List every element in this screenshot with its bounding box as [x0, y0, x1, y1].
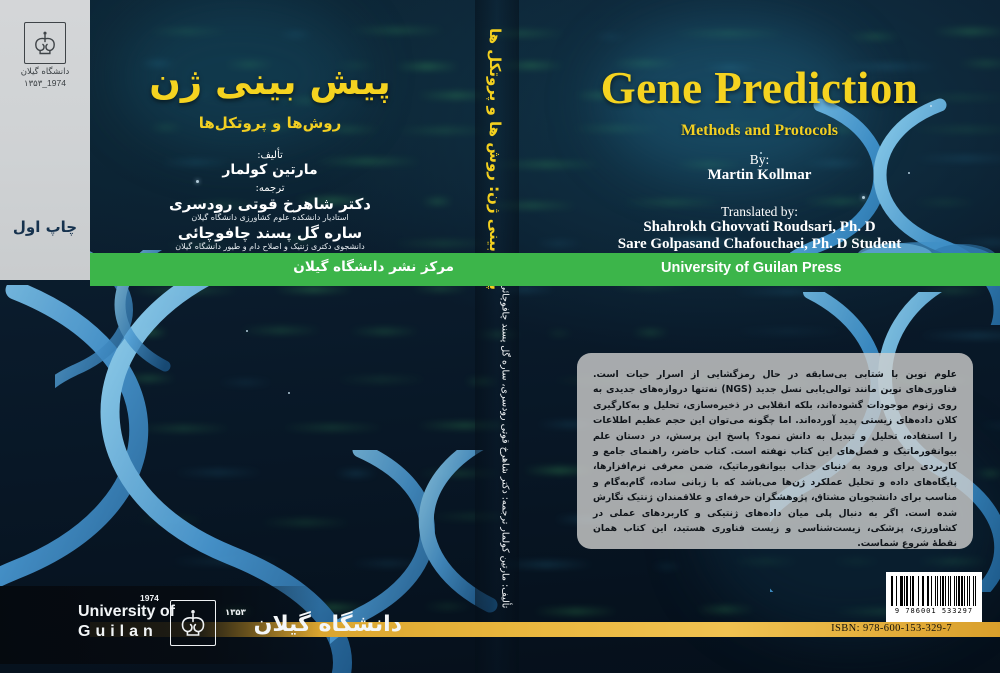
- guilan-emblem-icon-bottom: [170, 600, 216, 646]
- back-translator-1: دکتر شاهرخ قوتی رودسری: [90, 195, 450, 213]
- logo-university-line1: University of: [78, 602, 175, 622]
- book-cover: دانشگاه گیلان ۱۳۵۳_1974 چاپ اول پیش بینی…: [0, 0, 1000, 673]
- back-subtitle-fa: روش‌ها و پروتکل‌ها: [90, 114, 450, 132]
- back-author-label: تألیف:: [90, 150, 450, 161]
- guilan-emblem-icon: [24, 22, 66, 64]
- barcode-bar: [976, 576, 977, 606]
- back-translator-2-affiliation: دانشجوی دکتری ژنتیک و اصلاح دام و طیور د…: [90, 242, 450, 251]
- front-translator-1: Shahrokh Ghovvati Roudsari, Ph. D: [519, 219, 1000, 236]
- logo-university-line2: Guilan: [78, 622, 175, 642]
- flap-university-logo: دانشگاه گیلان ۱۳۵۳_1974: [17, 22, 73, 89]
- barcode-bars: [891, 576, 977, 606]
- front-subtitle: Methods and Protocols: [519, 122, 1000, 140]
- flap-emblem-fa: دانشگاه گیلان: [17, 67, 73, 77]
- logo-university-en: University of Guilan: [78, 602, 175, 642]
- book-spine: پیش بینی ژن: روش ها و پروتکل ها تألیف: م…: [475, 0, 519, 673]
- logo-university-fa: دانشگاه گیلان: [222, 612, 402, 637]
- left-flap: دانشگاه گیلان ۱۳۵۳_1974 چاپ اول: [0, 0, 90, 280]
- back-cover-blurb: علوم نوین با شتابی بی‌سابقه در حال رمزگش…: [577, 353, 973, 549]
- publisher-band: مرکز نشر دانشگاه گیلان University of Gui…: [90, 253, 1000, 286]
- emblem-glyph-icon: [31, 29, 59, 57]
- bottom-logo-band: 1974 University of Guilan ۱۳۵۳ دانشگاه گ…: [0, 586, 320, 664]
- publisher-name-fa: مرکز نشر دانشگاه گیلان: [293, 259, 454, 275]
- front-author-name: Martin Kollmar: [519, 167, 1000, 184]
- front-translated-label: Translated by:: [519, 204, 1000, 220]
- flap-emblem-years: ۱۳۵۳_1974: [17, 78, 73, 89]
- back-translator-1-affiliation: استادیار دانشکده علوم کشاورزی دانشگاه گی…: [90, 213, 450, 222]
- front-title: Gene Prediction: [519, 62, 1000, 114]
- back-translator-2: ساره گل پسند چافوچائی: [90, 224, 450, 242]
- barcode: 9 786001 533297: [886, 572, 982, 622]
- front-by-label: By:: [519, 152, 1000, 168]
- back-translator-label: ترجمه:: [90, 183, 450, 194]
- back-cover: پیش بینی ژن روش‌ها و پروتکل‌ها تألیف: ما…: [90, 0, 475, 673]
- isbn-text: ISBN: 978-600-153-329-7: [831, 623, 952, 634]
- front-translator-2: Sare Golpasand Chafouchaei, Ph. D Studen…: [519, 236, 1000, 253]
- publisher-name-en: University of Guilan Press: [661, 260, 842, 276]
- back-title-fa: پیش بینی ژن: [90, 60, 450, 103]
- emblem-glyph-icon: [177, 607, 209, 639]
- barcode-digits: 9 786001 533297: [891, 607, 977, 615]
- back-author-name: مارتین کولمار: [90, 162, 450, 178]
- edition-label: چاپ اول: [0, 218, 90, 236]
- spine-credits: تألیف: مارتین کولمار ترجمه: دکتر شاهرخ ق…: [500, 256, 511, 636]
